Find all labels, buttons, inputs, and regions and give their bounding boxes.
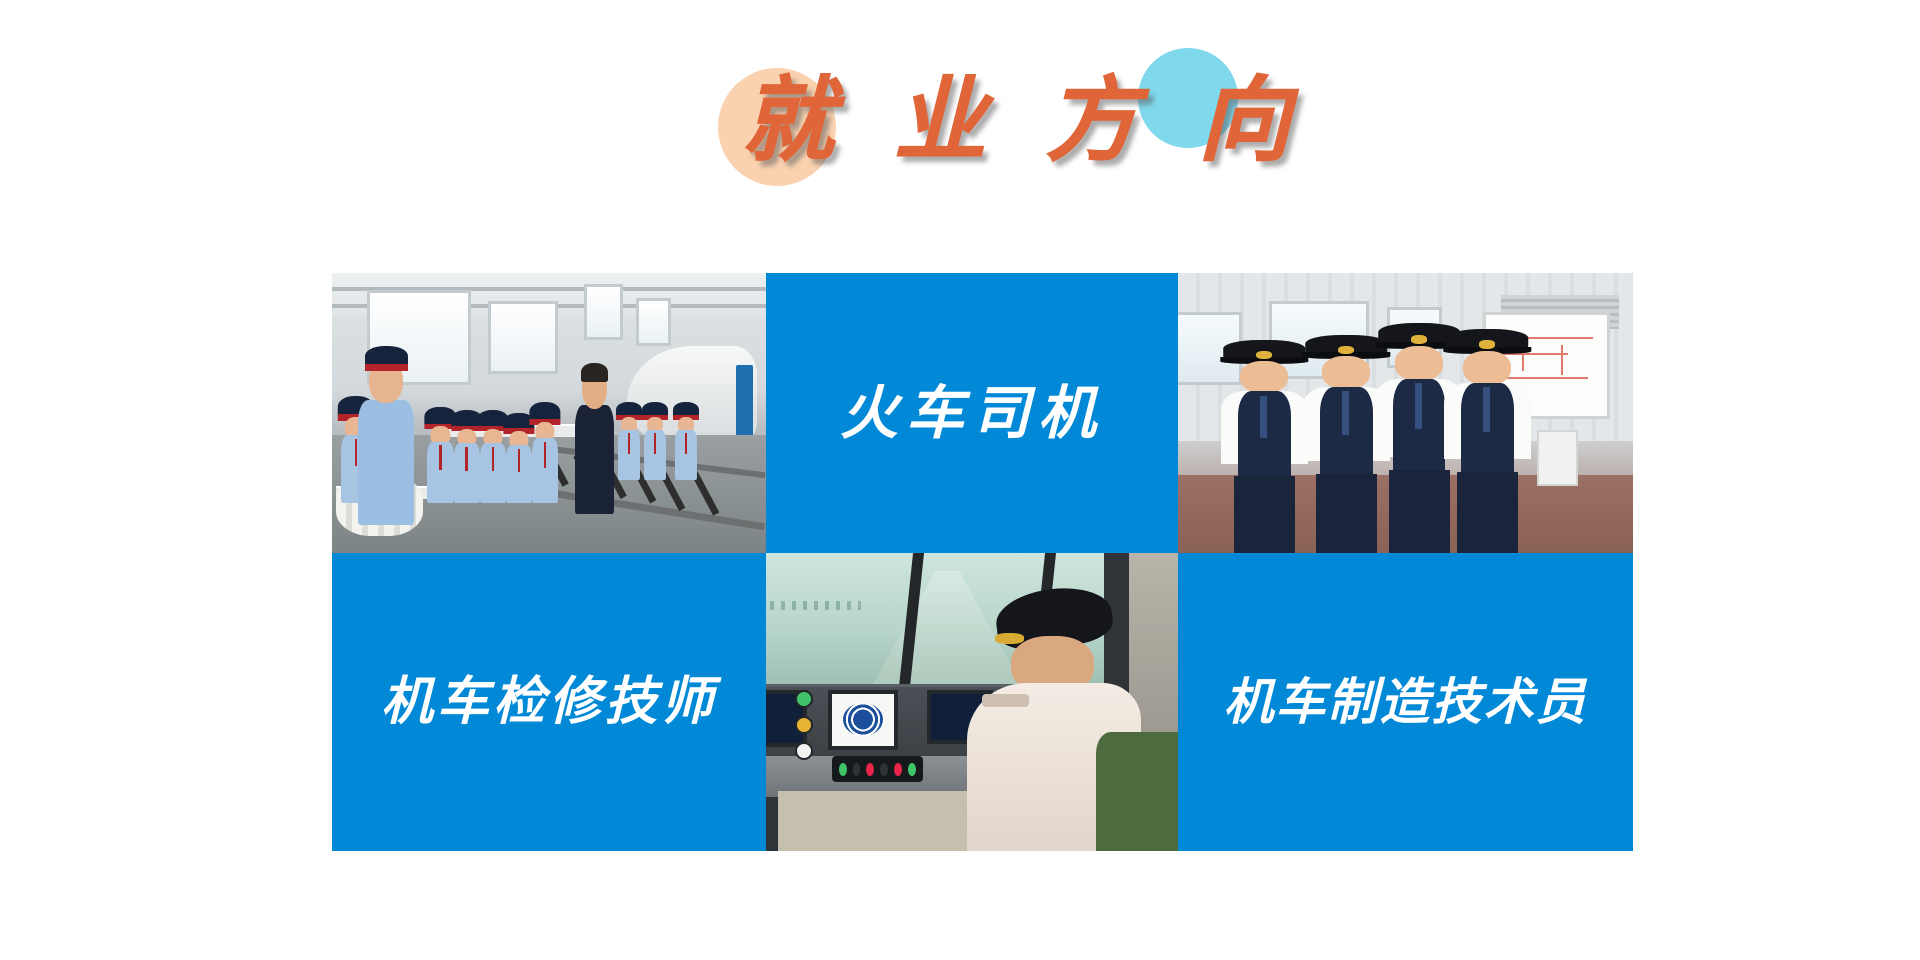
slide-root: 就 业 方 向 bbox=[0, 0, 1920, 960]
page-title: 就 业 方 向 bbox=[742, 50, 1262, 190]
grid-cell-train-driver[interactable]: 火车司机 bbox=[766, 273, 1178, 553]
label-locomotive-manufacturing-technician: 机车制造技术员 bbox=[1224, 677, 1588, 727]
grid-cell-cab-simulator bbox=[766, 553, 1178, 851]
train-cab-simulator-photo bbox=[766, 553, 1178, 851]
grid-cell-railway-training-hall bbox=[332, 273, 766, 553]
title-inner: 就 业 方 向 bbox=[710, 40, 1270, 200]
grid-cell-uniformed-students bbox=[1178, 273, 1633, 553]
employment-directions-grid: 火车司机 bbox=[332, 273, 1633, 851]
label-train-driver: 火车司机 bbox=[840, 384, 1104, 442]
uniformed-students-group-photo bbox=[1178, 273, 1633, 553]
page-title-block: 就 业 方 向 bbox=[0, 40, 1920, 200]
grid-cell-manufacturing-technician[interactable]: 机车制造技术员 bbox=[1178, 553, 1633, 851]
label-locomotive-maintenance-technician: 机车检修技师 bbox=[381, 676, 717, 728]
railway-training-hall-photo bbox=[332, 273, 766, 553]
grid-cell-maintenance-technician[interactable]: 机车检修技师 bbox=[332, 553, 766, 851]
